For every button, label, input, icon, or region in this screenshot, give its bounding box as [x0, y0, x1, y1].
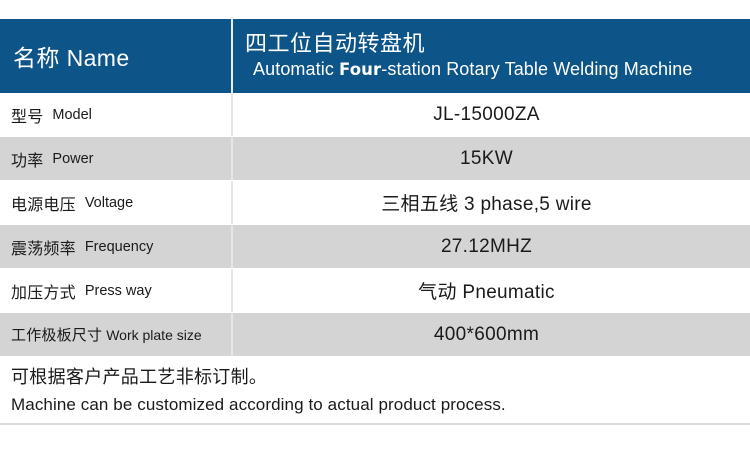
- spec-value: JL-15000ZA: [233, 93, 750, 136]
- customization-note-english: Machine can be customized according to a…: [11, 392, 750, 418]
- spec-value: 400*600mm: [233, 313, 750, 356]
- spec-label-english: Power: [43, 151, 93, 167]
- spec-label-cell: 型号 Model: [0, 93, 233, 136]
- customization-note: 可根据客户产品工艺非标订制。 Machine can be customized…: [0, 357, 750, 425]
- spec-label-cell: 电源电压 Voltage: [0, 181, 233, 224]
- header-name-label: 名称 Name: [13, 39, 130, 73]
- title-en-emphasis: Four: [339, 60, 381, 79]
- spec-label-chinese: 电源电压: [11, 191, 76, 215]
- spec-label-chinese: 震荡频率: [11, 235, 76, 259]
- spec-value: 气动 Pneumatic: [233, 269, 750, 312]
- spec-label-english: Model: [43, 107, 92, 123]
- spec-label-english: Press way: [76, 283, 152, 299]
- spec-header: 名称 Name 四工位自动转盘机 Automatic Four-station …: [0, 19, 750, 93]
- table-row: 电源电压 Voltage 三相五线 3 phase,5 wire: [0, 181, 750, 225]
- product-spec-sheet: 名称 Name 四工位自动转盘机 Automatic Four-station …: [0, 0, 750, 450]
- spec-label-chinese: 工作极板尺寸: [11, 324, 102, 345]
- header-title-cell: 四工位自动转盘机 Automatic Four-station Rotary T…: [233, 19, 750, 93]
- spec-label-chinese: 加压方式: [11, 279, 76, 303]
- spec-label-cell: 加压方式 Press way: [0, 269, 233, 312]
- title-en-suffix: -station Rotary Table Welding Machine: [381, 59, 692, 79]
- spec-label-cell: 功率 Power: [0, 137, 233, 180]
- customization-note-chinese: 可根据客户产品工艺非标订制。: [11, 363, 750, 392]
- table-row: 工作极板尺寸 Work plate size 400*600mm: [0, 313, 750, 357]
- spec-value: 27.12MHZ: [233, 225, 750, 268]
- spec-label-english: Work plate size: [102, 327, 201, 343]
- header-name-cell: 名称 Name: [0, 19, 233, 93]
- spec-label-english: Voltage: [76, 195, 133, 211]
- title-en-prefix: Automatic: [253, 59, 339, 79]
- spec-label-english: Frequency: [76, 239, 154, 255]
- spec-value: 三相五线 3 phase,5 wire: [233, 181, 750, 224]
- table-row: 功率 Power 15KW: [0, 137, 750, 181]
- spec-table: 型号 Model JL-15000ZA 功率 Power 15KW 电源电压 V…: [0, 93, 750, 357]
- spec-label-chinese: 功率: [11, 147, 43, 171]
- table-row: 震荡频率 Frequency 27.12MHZ: [0, 225, 750, 269]
- product-title-chinese: 四工位自动转盘机: [245, 31, 750, 57]
- spec-label-chinese: 型号: [11, 103, 43, 127]
- product-title-english: Automatic Four-station Rotary Table Weld…: [245, 57, 750, 82]
- spec-label-cell: 工作极板尺寸 Work plate size: [0, 313, 233, 356]
- table-row: 型号 Model JL-15000ZA: [0, 93, 750, 137]
- spec-value: 15KW: [233, 137, 750, 180]
- table-row: 加压方式 Press way 气动 Pneumatic: [0, 269, 750, 313]
- spec-label-cell: 震荡频率 Frequency: [0, 225, 233, 268]
